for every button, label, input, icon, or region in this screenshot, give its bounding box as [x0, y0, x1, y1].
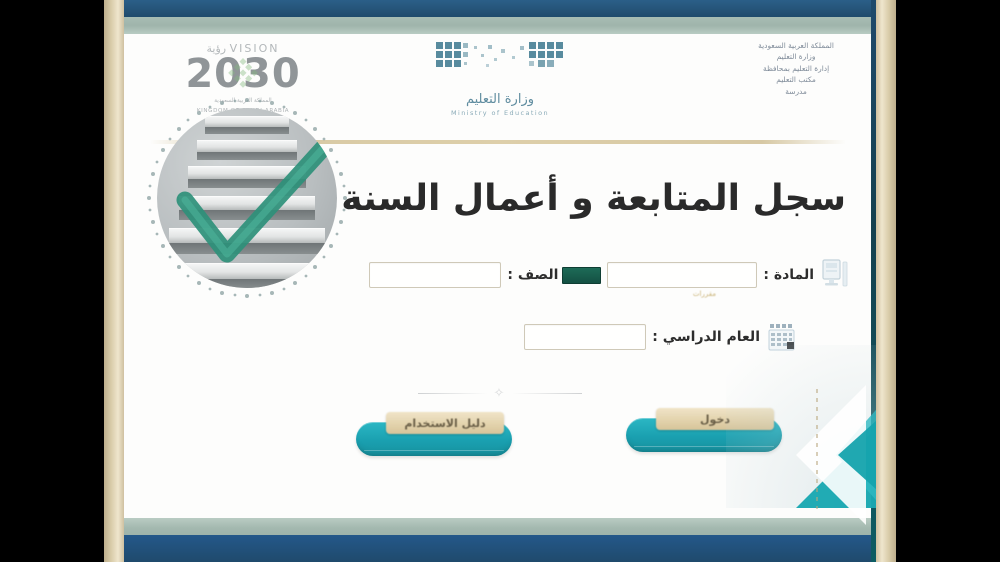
bottom-sage-bar: [124, 518, 876, 535]
ministry-line-3: إدارة التعليم بمحافظة: [758, 63, 834, 74]
ministry-line-1: المملكة العربية السعودية: [758, 40, 834, 51]
chevron-icon-mid: [796, 385, 866, 525]
top-navy-bar: [124, 0, 876, 17]
form-row-subject-grade: المادة : الصف :: [369, 258, 848, 292]
divider-line-right: [418, 393, 488, 394]
frame-strip-left: [104, 0, 124, 562]
grade-chip-caption: مقررات: [693, 290, 716, 298]
manual-button[interactable]: دليل الاستخدام: [356, 412, 512, 456]
corner-triangle-icon: [796, 428, 876, 508]
manual-button-label[interactable]: دليل الاستخدام: [386, 412, 504, 434]
illustration-container: [144, 95, 350, 301]
subject-input[interactable]: [607, 262, 757, 288]
ministry-line-2: وزارة التعليم: [758, 51, 834, 62]
divider-ornament-icon: ✧: [494, 386, 507, 401]
ministry-line-4: مكتب التعليم: [758, 74, 834, 85]
calendar-icon: [768, 322, 796, 352]
chevron-icon-outer: [836, 385, 876, 525]
dotted-line-decoration: [816, 389, 818, 509]
subject-monitor-icon: [822, 258, 848, 292]
ministry-of-education-logo: وزارة التعليم Ministry of Education: [430, 40, 570, 117]
grade-chip-icon[interactable]: [562, 267, 601, 284]
frame-strip-right: [876, 0, 896, 562]
stairs-with-checkmark-photo: [157, 108, 337, 288]
form-row-academic-year: العام الدراسي :: [524, 322, 796, 352]
top-sage-bar: [124, 17, 876, 34]
enter-button-label[interactable]: دخول: [656, 408, 774, 430]
grade-input[interactable]: [369, 262, 501, 288]
ministry-logo-name-ar: وزارة التعليم: [430, 92, 570, 107]
green-checkmark-icon: [157, 108, 337, 288]
page-title: سجل المتابعة و أعمال السنة: [341, 178, 846, 219]
field-label-subject: المادة :: [763, 267, 814, 283]
field-label-academic-year: العام الدراسي :: [652, 329, 760, 345]
field-label-grade: الصف :: [507, 267, 558, 283]
moe-dotted-grid-icon: [434, 40, 566, 84]
ministry-address-block: المملكة العربية السعودية وزارة التعليم إ…: [758, 40, 834, 97]
decorative-divider: ✧: [400, 382, 600, 404]
divider-line-left: [512, 393, 582, 394]
academic-year-input[interactable]: [524, 324, 646, 350]
screenshot-viewport: المملكة العربية السعودية وزارة التعليم إ…: [0, 0, 1000, 562]
ministry-logo-name-en: Ministry of Education: [430, 109, 570, 117]
ministry-line-5: مدرسة: [758, 86, 834, 97]
enter-button[interactable]: دخول: [626, 408, 782, 452]
slide-canvas: المملكة العربية السعودية وزارة التعليم إ…: [124, 0, 876, 562]
bottom-navy-bar: [124, 535, 876, 562]
